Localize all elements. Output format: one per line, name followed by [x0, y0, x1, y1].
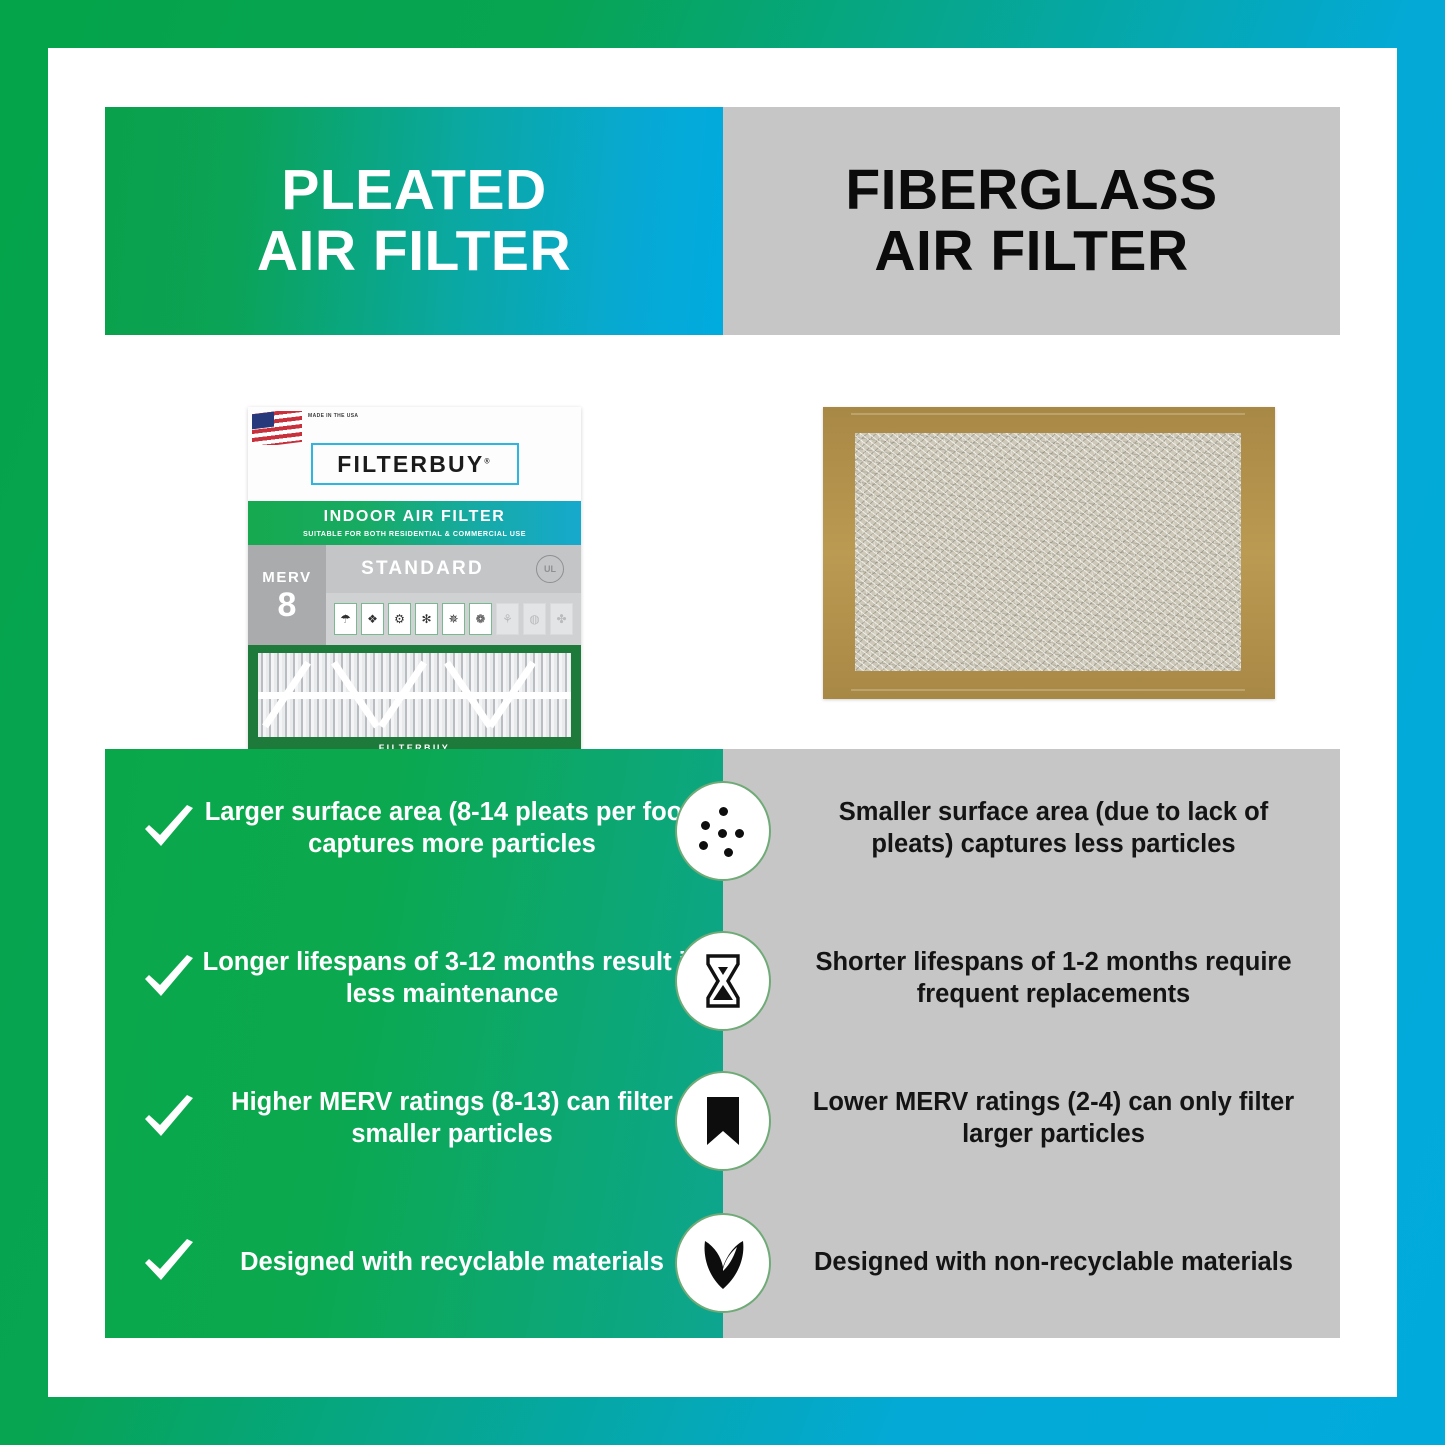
comparison-rows: Larger surface area (8-14 pleats per foo…	[105, 749, 1340, 1338]
usa-flag-icon	[252, 411, 302, 445]
ul-certification-icon: UL	[519, 545, 581, 593]
fiberglass-filter-image	[823, 407, 1275, 699]
banner-subtitle: SUITABLE FOR BOTH RESIDENTIAL & COMMERCI…	[303, 529, 526, 538]
fiberglass-product-cell	[723, 335, 1340, 749]
feature-tile: ✻	[415, 603, 438, 635]
pleated-product-cell: MADE IN THE USA FILTERBUY® INDOOR AIR FI…	[105, 335, 723, 749]
feature-tile: ☂	[334, 603, 357, 635]
indoor-air-filter-banner: INDOOR AIR FILTER SUITABLE FOR BOTH RESI…	[248, 501, 581, 545]
pleated-header-line2: AIR FILTER	[257, 221, 571, 282]
feature-tile-inactive: ⚘	[496, 603, 519, 635]
fiberglass-header-line2: AIR FILTER	[845, 221, 1217, 282]
bookmark-icon	[675, 1071, 771, 1171]
merv-label: MERV	[262, 569, 311, 586]
pleat-lattice	[258, 653, 571, 737]
feature-tile: ❁	[469, 603, 492, 635]
checkmark-icon	[137, 952, 201, 1006]
filterbuy-wordmark: FILTERBUY®	[337, 451, 492, 478]
row-right-text: Lower MERV ratings (2-4) can only filter…	[801, 1087, 1306, 1150]
merv-value: 8	[278, 588, 297, 622]
feature-tile-inactive: ✤	[550, 603, 573, 635]
ul-mark: UL	[536, 555, 564, 583]
row-left-text: Larger surface area (8-14 pleats per foo…	[201, 797, 717, 860]
checkmark-icon	[137, 1092, 201, 1146]
filterbuy-logo: FILTERBUY®	[311, 443, 519, 485]
feature-tile-inactive: ◍	[523, 603, 546, 635]
checkmark-icon	[137, 802, 201, 856]
fiberglass-mesh	[855, 433, 1241, 671]
row-right-text: Smaller surface area (due to lack of ple…	[801, 797, 1306, 860]
row-right-text: Designed with non-recyclable materials	[801, 1247, 1306, 1279]
pleated-header: PLEATED AIR FILTER	[105, 107, 723, 335]
row-left-text: Longer lifespans of 3-12 months result i…	[201, 947, 717, 1010]
content-card: PLEATED AIR FILTER FIBERGLASS AIR FILTER	[48, 48, 1397, 1397]
checkmark-icon	[137, 1236, 201, 1290]
fiberglass-header: FIBERGLASS AIR FILTER	[723, 107, 1340, 335]
product-image-band: MADE IN THE USA FILTERBUY® INDOOR AIR FI…	[105, 335, 1340, 749]
grade-label: STANDARD	[326, 545, 519, 593]
pleated-media-photo: FILTERBUY	[248, 645, 581, 755]
merv-spec-band: MERV 8 STANDARD UL ☂ ❖ ⚙ ✻	[248, 545, 581, 645]
fiberglass-header-line1: FIBERGLASS	[845, 158, 1217, 222]
row-right-text: Shorter lifespans of 1-2 months require …	[801, 947, 1306, 1010]
feature-tile: ⚙	[388, 603, 411, 635]
feature-tile: ❖	[361, 603, 384, 635]
row-left-text: Higher MERV ratings (8-13) can filter sm…	[201, 1087, 717, 1150]
feature-tile-strip: ☂ ❖ ⚙ ✻ ✵ ❁ ⚘ ◍ ✤	[326, 593, 581, 645]
row-left-text: Designed with recyclable materials	[201, 1247, 717, 1279]
leaf-icon	[675, 1213, 771, 1313]
feature-tile: ✵	[442, 603, 465, 635]
merv-badge: MERV 8	[248, 545, 326, 645]
hourglass-icon	[675, 931, 771, 1031]
pleated-header-line1: PLEATED	[281, 158, 546, 222]
pleated-filter-box-image: MADE IN THE USA FILTERBUY® INDOOR AIR FI…	[248, 407, 581, 755]
made-in-usa-label: MADE IN THE USA	[308, 413, 358, 421]
header-band: PLEATED AIR FILTER FIBERGLASS AIR FILTER	[105, 107, 1340, 335]
infographic-frame: PLEATED AIR FILTER FIBERGLASS AIR FILTER	[0, 0, 1445, 1445]
particles-icon	[675, 781, 771, 881]
banner-title: INDOOR AIR FILTER	[324, 508, 506, 526]
